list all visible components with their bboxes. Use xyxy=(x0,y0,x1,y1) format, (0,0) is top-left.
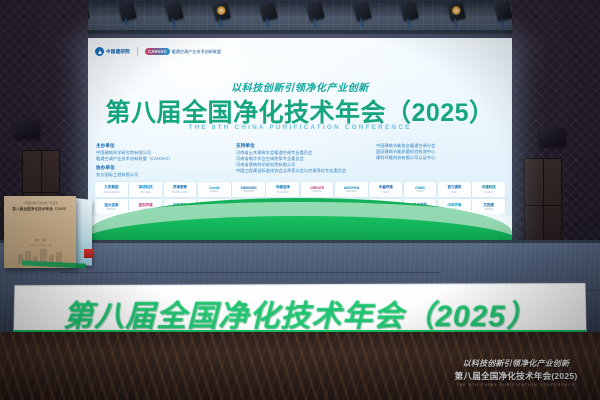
red-floor-block xyxy=(84,249,94,258)
sponsor-logo: CREATECREATE xyxy=(301,182,334,197)
sponsor-subtitle: BROAD xyxy=(107,208,116,211)
sponsor-subtitle: CAMFIL xyxy=(210,190,219,193)
sponsor-subtitle: CREATE xyxy=(312,190,322,193)
credit-column-2: 支持单位河南省土木建筑学会暖通空调专业委员会河南省制冷学会空调热泵专业委员会河南… xyxy=(236,143,364,178)
sponsor-logo: 中金环境CNNC xyxy=(369,182,402,197)
sponsor-logo: 美埃科技MAY AIR xyxy=(129,182,162,197)
logo-divider xyxy=(137,47,138,56)
sponsor-logo: SIMONDSSIMONDS xyxy=(232,182,265,197)
cabr-mark-icon xyxy=(95,47,104,56)
sponsor-subtitle: AXIDUN xyxy=(484,208,493,211)
sponsor-name: 百力通风 xyxy=(447,185,461,190)
credit-column-3: 中国建筑节能协会暖通空调分会国家建筑节能质量检验检测中心建科环能科技有限公司认证… xyxy=(376,143,504,178)
conference-stage-photo: 中国建研院 CAHVAC 暖通空调产业技术创新联盟 以科技创新引领净化产业创新 … xyxy=(0,0,600,400)
cabr-logo: 中国建研院 xyxy=(95,47,130,56)
floor-seam-1 xyxy=(60,272,440,273)
cahvac-logo-text: 暖通空调产业技术创新联盟 xyxy=(172,49,221,55)
sponsor-subtitle: BAILI xyxy=(451,191,457,194)
sponsor-logo: AIROPANAIROPAN xyxy=(335,182,368,197)
sponsor-logo: 华康洁净HUAKANG xyxy=(266,182,299,197)
credit-line: 建科环能科技有限公司认证中心 xyxy=(376,155,504,161)
cahvac-pill-icon: CAHVAC xyxy=(145,48,170,55)
sponsor-row-1: 久安集团JIUAN GROUP美埃科技MAY AIR苏净安泰SUJING ANT… xyxy=(95,182,505,197)
credit-heading: 支持单位 xyxy=(236,143,364,149)
sponsor-name: SIMONDS xyxy=(241,186,257,190)
sponsor-name: 蓝实环境 xyxy=(139,203,153,208)
watermark-subtitle: THE 8TH CHINA PURIFICATION CONFERENCE xyxy=(440,383,592,387)
sponsor-logo: 中建科技CSCEC xyxy=(472,182,505,197)
sponsor-name: 远大洁净 xyxy=(104,203,118,208)
foreground-banner-text: 第八届全国净化技术年会（2025） xyxy=(13,291,586,335)
sponsor-subtitle: SIMONDS xyxy=(243,190,254,193)
sponsor-name: 艾西盾 xyxy=(483,203,493,208)
sponsor-subtitle: MAY AIR xyxy=(141,191,150,194)
speaker-right xyxy=(540,128,566,146)
watermark: 以科技创新引领净化产业创新 第八届全国净化技术年会(2025) THE 8TH … xyxy=(440,358,592,387)
sponsor-name: CREATE xyxy=(310,186,324,190)
sponsor-name: 华康洁净 xyxy=(276,185,290,190)
speaker-left xyxy=(14,120,40,138)
sponsor-name: 美埃科技 xyxy=(139,185,153,190)
credit-heading: 协办单位 xyxy=(96,165,224,171)
credit-heading: 主办单位 xyxy=(96,143,224,149)
podium-line-3: 主办：郑州 xyxy=(9,238,72,242)
sponsor-logo: 苏净安泰SUJING ANTAI xyxy=(164,182,197,197)
podium-line-4: 2025年10月17日—19日 xyxy=(9,243,72,247)
cardboard-podium: 以科技创新引领净化产业创新 第八届全国净化技术年会（2025） 主办：郑州 20… xyxy=(4,196,76,268)
screen-header-logos: 中国建研院 CAHVAC 暖通空调产业技术创新联盟 xyxy=(95,47,221,56)
sponsor-subtitle: AIROPAN xyxy=(346,190,357,193)
sponsor-name: 久安集团 xyxy=(104,185,118,190)
sponsor-logo: 百力通风BAILI xyxy=(438,182,471,197)
sponsor-name: 中车环境 xyxy=(447,203,461,208)
credit-column-1: 主办单位中国建筑科学研究院有限公司暖通空调产业技术创新联盟（CAHVAC）协办单… xyxy=(96,143,224,178)
watermark-tagline: 以科技创新引领净化产业创新 xyxy=(440,358,592,369)
sponsor-name: 苏净安泰 xyxy=(173,185,187,190)
credit-line: 中国工程建设标准化协会洁净室分会与空调净化专业委员会 xyxy=(236,168,364,174)
sponsor-subtitle: CNMC xyxy=(416,190,423,193)
sponsor-logo: CamfilCAMFIL xyxy=(198,182,231,197)
sponsor-name: CNMC xyxy=(415,186,425,190)
sponsor-name: 中金环境 xyxy=(379,185,393,190)
sponsor-name: Camfil xyxy=(209,186,219,190)
organizer-credits: 主办单位中国建筑科学研究院有限公司暖通空调产业技术创新联盟（CAHVAC）协办单… xyxy=(96,143,504,178)
sponsor-subtitle: CSCEC xyxy=(484,191,492,194)
sponsor-subtitle: SUJING ANTAI xyxy=(172,191,188,194)
led-screen: 中国建研院 CAHVAC 暖通空调产业技术创新联盟 以科技创新引领净化产业创新 … xyxy=(88,38,512,240)
sponsor-name: 中建科技 xyxy=(482,185,496,190)
watermark-title: 第八届全国净化技术年会(2025) xyxy=(440,370,592,382)
cahvac-logo: CAHVAC 暖通空调产业技术创新联盟 xyxy=(145,48,221,55)
sponsor-name: AIROPAN xyxy=(344,186,360,190)
cabr-logo-text: 中国建研院 xyxy=(106,49,130,55)
screen-tagline: 以科技创新引领净化产业创新 xyxy=(88,79,512,94)
podium-line-2: 第八届全国净化技术年会（2025） xyxy=(8,207,73,212)
sponsor-subtitle: CNNC xyxy=(382,191,389,194)
podium-line-1: 以科技创新引领净化产业创新 xyxy=(9,201,72,205)
sponsor-subtitle: JIUAN GROUP xyxy=(103,191,119,194)
sponsor-logo: CNMCCNMC xyxy=(404,182,437,197)
sponsor-logo: 久安集团JIUAN GROUP xyxy=(95,182,128,197)
sponsor-subtitle: HUAKANG xyxy=(277,191,289,194)
screen-subtitle: THE 8TH CHINA PURIFICATION CONFERENCE xyxy=(88,124,512,131)
credit-line: 东方国际工程有限公司 xyxy=(96,172,224,178)
